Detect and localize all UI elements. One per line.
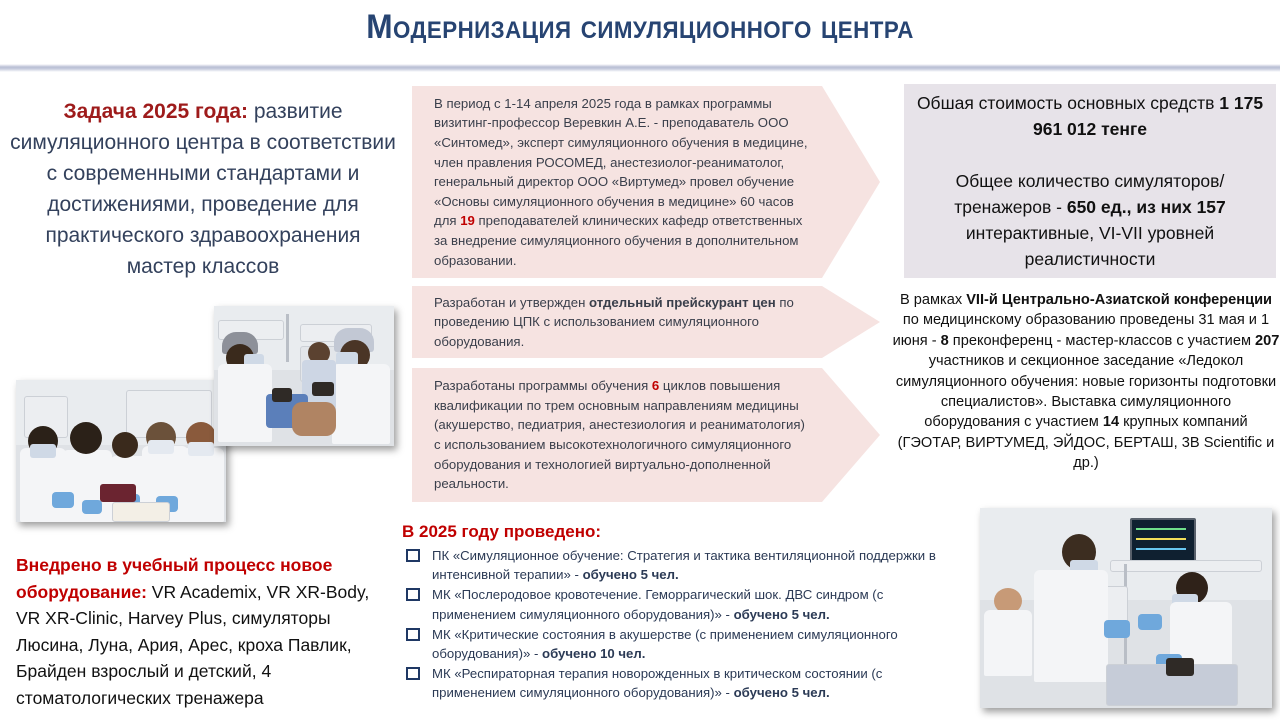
completed-courses-list: ПК «Симуляционное обучение: Стратегия и … [402, 546, 962, 703]
checkbox-icon[interactable] [406, 667, 420, 680]
list-item-label: МК «Респираторная терапия новорожденных … [432, 664, 962, 702]
objective-text: Задача 2025 года: развитие симуляционног… [8, 96, 398, 282]
cost-summary-box: Обшая стоимость основных средств 1 175 9… [904, 84, 1276, 278]
objective-body: развитие симуляционного центра в соответ… [10, 100, 396, 278]
list-item[interactable]: МК «Критические состояния в акушерстве (… [402, 625, 962, 663]
photo-students-training [16, 380, 226, 522]
list-item[interactable]: ПК «Симуляционное обучение: Стратегия и … [402, 546, 962, 584]
completed-courses-title: В 2025 году проведено: [402, 520, 962, 543]
list-item-label: ПК «Симуляционное обучение: Стратегия и … [432, 546, 962, 584]
checkbox-icon[interactable] [406, 549, 420, 562]
list-item-label: МК «Критические состояния в акушерстве (… [432, 625, 962, 663]
arrow-visiting-professor: В период с 1-14 апреля 2025 года в рамка… [412, 86, 880, 278]
checkbox-icon[interactable] [406, 588, 420, 601]
arrow-training-programs-text: Разработаны программы обучения 6 циклов … [412, 370, 880, 500]
list-item[interactable]: МК «Послеродовое кровотечение. Геморраги… [402, 585, 962, 623]
cost-summary-text: Обшая стоимость основных средств 1 175 9… [916, 90, 1264, 272]
page-title: Модернизация симуляционного центра [45, 8, 1235, 47]
checkbox-icon[interactable] [406, 628, 420, 641]
header-divider [0, 64, 1280, 72]
photo-icu-simulation [980, 508, 1272, 708]
arrow-visiting-professor-text: В период с 1-14 апреля 2025 года в рамка… [412, 88, 880, 276]
completed-courses-block: В 2025 году проведено: ПК «Симуляционное… [402, 520, 962, 704]
equipment-text: Внедрено в учебный процесс новое оборудо… [16, 552, 396, 711]
list-item-label: МК «Послеродовое кровотечение. Геморраги… [432, 585, 962, 623]
arrow-price-list-text: Разработан и утвержден отдельный прейску… [412, 287, 880, 358]
conference-summary-text: В рамках VII-й Центрально-Азиатской конф… [892, 290, 1280, 474]
objective-highlight: Задача 2025 года: [63, 100, 248, 123]
slide-header: Модернизация симуляционного центра [0, 0, 1280, 64]
arrow-price-list: Разработан и утвержден отдельный прейску… [412, 286, 880, 358]
list-item[interactable]: МК «Респираторная терапия новорожденных … [402, 664, 962, 702]
arrow-training-programs: Разработаны программы обучения 6 циклов … [412, 368, 880, 502]
photo-obstetric-simulation [214, 306, 394, 446]
